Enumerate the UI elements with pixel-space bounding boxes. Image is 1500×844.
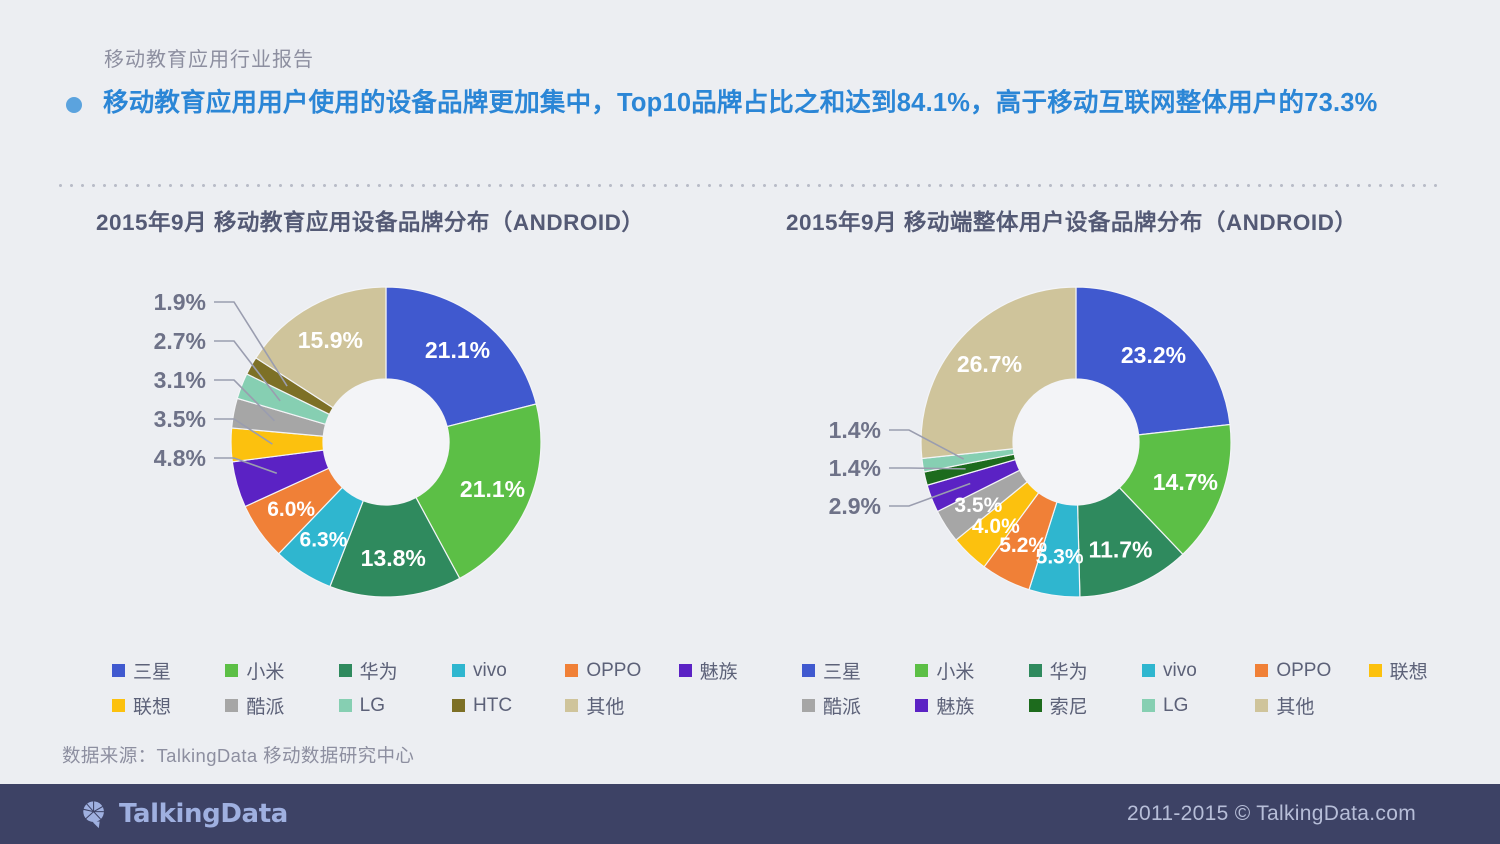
slice-value-label: 23.2% — [1121, 342, 1186, 368]
donut-hole — [1013, 379, 1139, 505]
donut-chart-left: 21.1%21.1%13.8%6.3%6.0%15.9%1.9%2.7%3.1%… — [96, 265, 786, 635]
slice-value-label-outside: 4.8% — [154, 445, 206, 471]
legend-swatch-icon — [112, 699, 125, 712]
legend-label: 酷派 — [823, 692, 861, 719]
legend-swatch-icon — [1255, 664, 1268, 677]
talkingdata-logo-icon — [80, 799, 110, 829]
legend-label: vivo — [1163, 660, 1197, 682]
legend-item-LG[interactable]: LG — [1142, 692, 1255, 719]
slice-value-label: 14.7% — [1153, 469, 1218, 495]
logo-text: TalkingData — [119, 799, 288, 829]
legend-swatch-icon — [1255, 699, 1268, 712]
legend-item-vivo[interactable]: vivo — [452, 657, 565, 684]
legend-item-酷派[interactable]: 酷派 — [802, 692, 915, 719]
legend-label: 华为 — [1050, 657, 1088, 684]
legend-swatch-icon — [915, 699, 928, 712]
legend-swatch-icon — [452, 699, 465, 712]
legend-label: OPPO — [1276, 660, 1331, 682]
slice-value-label: 15.9% — [298, 327, 363, 353]
slice-value-label-outside: 2.9% — [829, 493, 881, 519]
slice-value-label-outside: 3.5% — [154, 406, 206, 432]
legend-swatch-icon — [565, 699, 578, 712]
legend-label: 联想 — [133, 692, 171, 719]
slice-value-label: 21.1% — [425, 337, 490, 363]
donut-hole — [323, 379, 449, 505]
slice-value-label: 3.5% — [954, 494, 1002, 517]
legend-swatch-icon — [339, 664, 352, 677]
chart-title-right: 2015年9月 移动端整体用户设备品牌分布（ANDROID） — [786, 205, 1476, 237]
legend-label: 其他 — [1276, 692, 1314, 719]
legend-swatch-icon — [1142, 664, 1155, 677]
footer-bar: TalkingData 2011-2015 © TalkingData.com — [0, 784, 1500, 844]
legend-label: vivo — [473, 660, 507, 682]
slice-value-label: 4.0% — [972, 515, 1020, 538]
slice-value-label-outside: 2.7% — [154, 328, 206, 354]
donut-svg-left: 21.1%21.1%13.8%6.3%6.0%15.9%1.9%2.7%3.1%… — [96, 265, 786, 635]
page-title: 移动教育应用用户使用的设备品牌更加集中，Top10品牌占比之和达到84.1%，高… — [103, 85, 1378, 121]
legend-right: 三星小米华为vivoOPPO联想酷派魅族索尼LG其他 — [802, 657, 1482, 719]
legend-item-酷派[interactable]: 酷派 — [225, 692, 338, 719]
legend-label: 三星 — [823, 657, 861, 684]
legend-item-索尼[interactable]: 索尼 — [1029, 692, 1142, 719]
legend-item-小米[interactable]: 小米 — [225, 657, 338, 684]
legend-swatch-icon — [679, 664, 692, 677]
legend-label: 魅族 — [700, 657, 738, 684]
slice-value-label: 11.7% — [1089, 537, 1153, 563]
legend-swatch-icon — [565, 664, 578, 677]
slice-value-label: 26.7% — [957, 351, 1022, 377]
legend-item-其他[interactable]: 其他 — [1255, 692, 1368, 719]
slice-value-label: 6.0% — [267, 498, 315, 521]
talkingdata-logo: TalkingData — [80, 799, 288, 829]
legend-swatch-icon — [225, 699, 238, 712]
legend-item-华为[interactable]: 华为 — [1029, 657, 1142, 684]
chart-panel-education: 2015年9月 移动教育应用设备品牌分布（ANDROID） 21.1%21.1%… — [96, 205, 786, 730]
legend-left: 三星小米华为vivoOPPO魅族联想酷派LGHTC其他 — [112, 657, 792, 719]
legend-item-小米[interactable]: 小米 — [915, 657, 1028, 684]
legend-label: LG — [360, 695, 385, 717]
slice-value-label-outside: 1.4% — [829, 417, 881, 443]
legend-label: 华为 — [360, 657, 398, 684]
legend-item-其他[interactable]: 其他 — [565, 692, 678, 719]
leader-line — [889, 468, 966, 469]
legend-item-魅族[interactable]: 魅族 — [915, 692, 1028, 719]
legend-swatch-icon — [452, 664, 465, 677]
legend-label: 其他 — [586, 692, 624, 719]
slice-value-label-outside: 3.1% — [154, 367, 206, 393]
legend-swatch-icon — [802, 699, 815, 712]
legend-swatch-icon — [1142, 699, 1155, 712]
legend-item-LG[interactable]: LG — [339, 692, 452, 719]
legend-item-HTC[interactable]: HTC — [452, 692, 565, 719]
slice-value-label: 13.8% — [361, 545, 426, 571]
legend-label: 小米 — [246, 657, 284, 684]
bullet-dot-icon — [66, 97, 82, 113]
legend-swatch-icon — [915, 664, 928, 677]
legend-label: 酷派 — [246, 692, 284, 719]
legend-item-三星[interactable]: 三星 — [112, 657, 225, 684]
legend-swatch-icon — [339, 699, 352, 712]
slice-value-label-outside: 1.9% — [154, 289, 206, 315]
copyright-text: 2011-2015 © TalkingData.com — [1127, 802, 1416, 826]
legend-item-华为[interactable]: 华为 — [339, 657, 452, 684]
slice-value-label: 21.1% — [460, 476, 525, 502]
legend-item-联想[interactable]: 联想 — [1369, 657, 1482, 684]
slice-value-label: 6.3% — [300, 529, 348, 552]
slice-value-label-outside: 1.4% — [829, 455, 881, 481]
legend-label: LG — [1163, 695, 1188, 717]
legend-label: HTC — [473, 695, 512, 717]
legend-item-OPPO[interactable]: OPPO — [565, 657, 678, 684]
legend-swatch-icon — [1029, 699, 1042, 712]
chart-panel-overall: 2015年9月 移动端整体用户设备品牌分布（ANDROID） 23.2%14.7… — [786, 205, 1476, 730]
donut-svg-right: 23.2%14.7%11.7%5.3%5.2%4.0%3.5%26.7%1.4%… — [786, 265, 1476, 635]
legend-label: 小米 — [936, 657, 974, 684]
legend-item-三星[interactable]: 三星 — [802, 657, 915, 684]
legend-label: 魅族 — [936, 692, 974, 719]
legend-item-联想[interactable]: 联想 — [112, 692, 225, 719]
legend-swatch-icon — [1029, 664, 1042, 677]
legend-item-OPPO[interactable]: OPPO — [1255, 657, 1368, 684]
legend-item-魅族[interactable]: 魅族 — [679, 657, 792, 684]
legend-item-vivo[interactable]: vivo — [1142, 657, 1255, 684]
legend-label: 联想 — [1390, 657, 1428, 684]
legend-label: 三星 — [133, 657, 171, 684]
legend-label: 索尼 — [1050, 692, 1088, 719]
source-note: 数据来源：TalkingData 移动数据研究中心 — [62, 742, 414, 768]
legend-label: OPPO — [586, 660, 641, 682]
headline-block: 移动教育应用用户使用的设备品牌更加集中，Top10品牌占比之和达到84.1%，高… — [66, 85, 1445, 121]
legend-swatch-icon — [112, 664, 125, 677]
report-kicker: 移动教育应用行业报告 — [104, 43, 314, 72]
legend-swatch-icon — [225, 664, 238, 677]
donut-chart-right: 23.2%14.7%11.7%5.3%5.2%4.0%3.5%26.7%1.4%… — [786, 265, 1476, 635]
slide-root: 移动教育应用行业报告 移动教育应用用户使用的设备品牌更加集中，Top10品牌占比… — [0, 0, 1500, 844]
chart-title-left: 2015年9月 移动教育应用设备品牌分布（ANDROID） — [96, 205, 786, 237]
legend-swatch-icon — [802, 664, 815, 677]
dotted-divider — [55, 184, 1445, 187]
legend-swatch-icon — [1369, 664, 1382, 677]
